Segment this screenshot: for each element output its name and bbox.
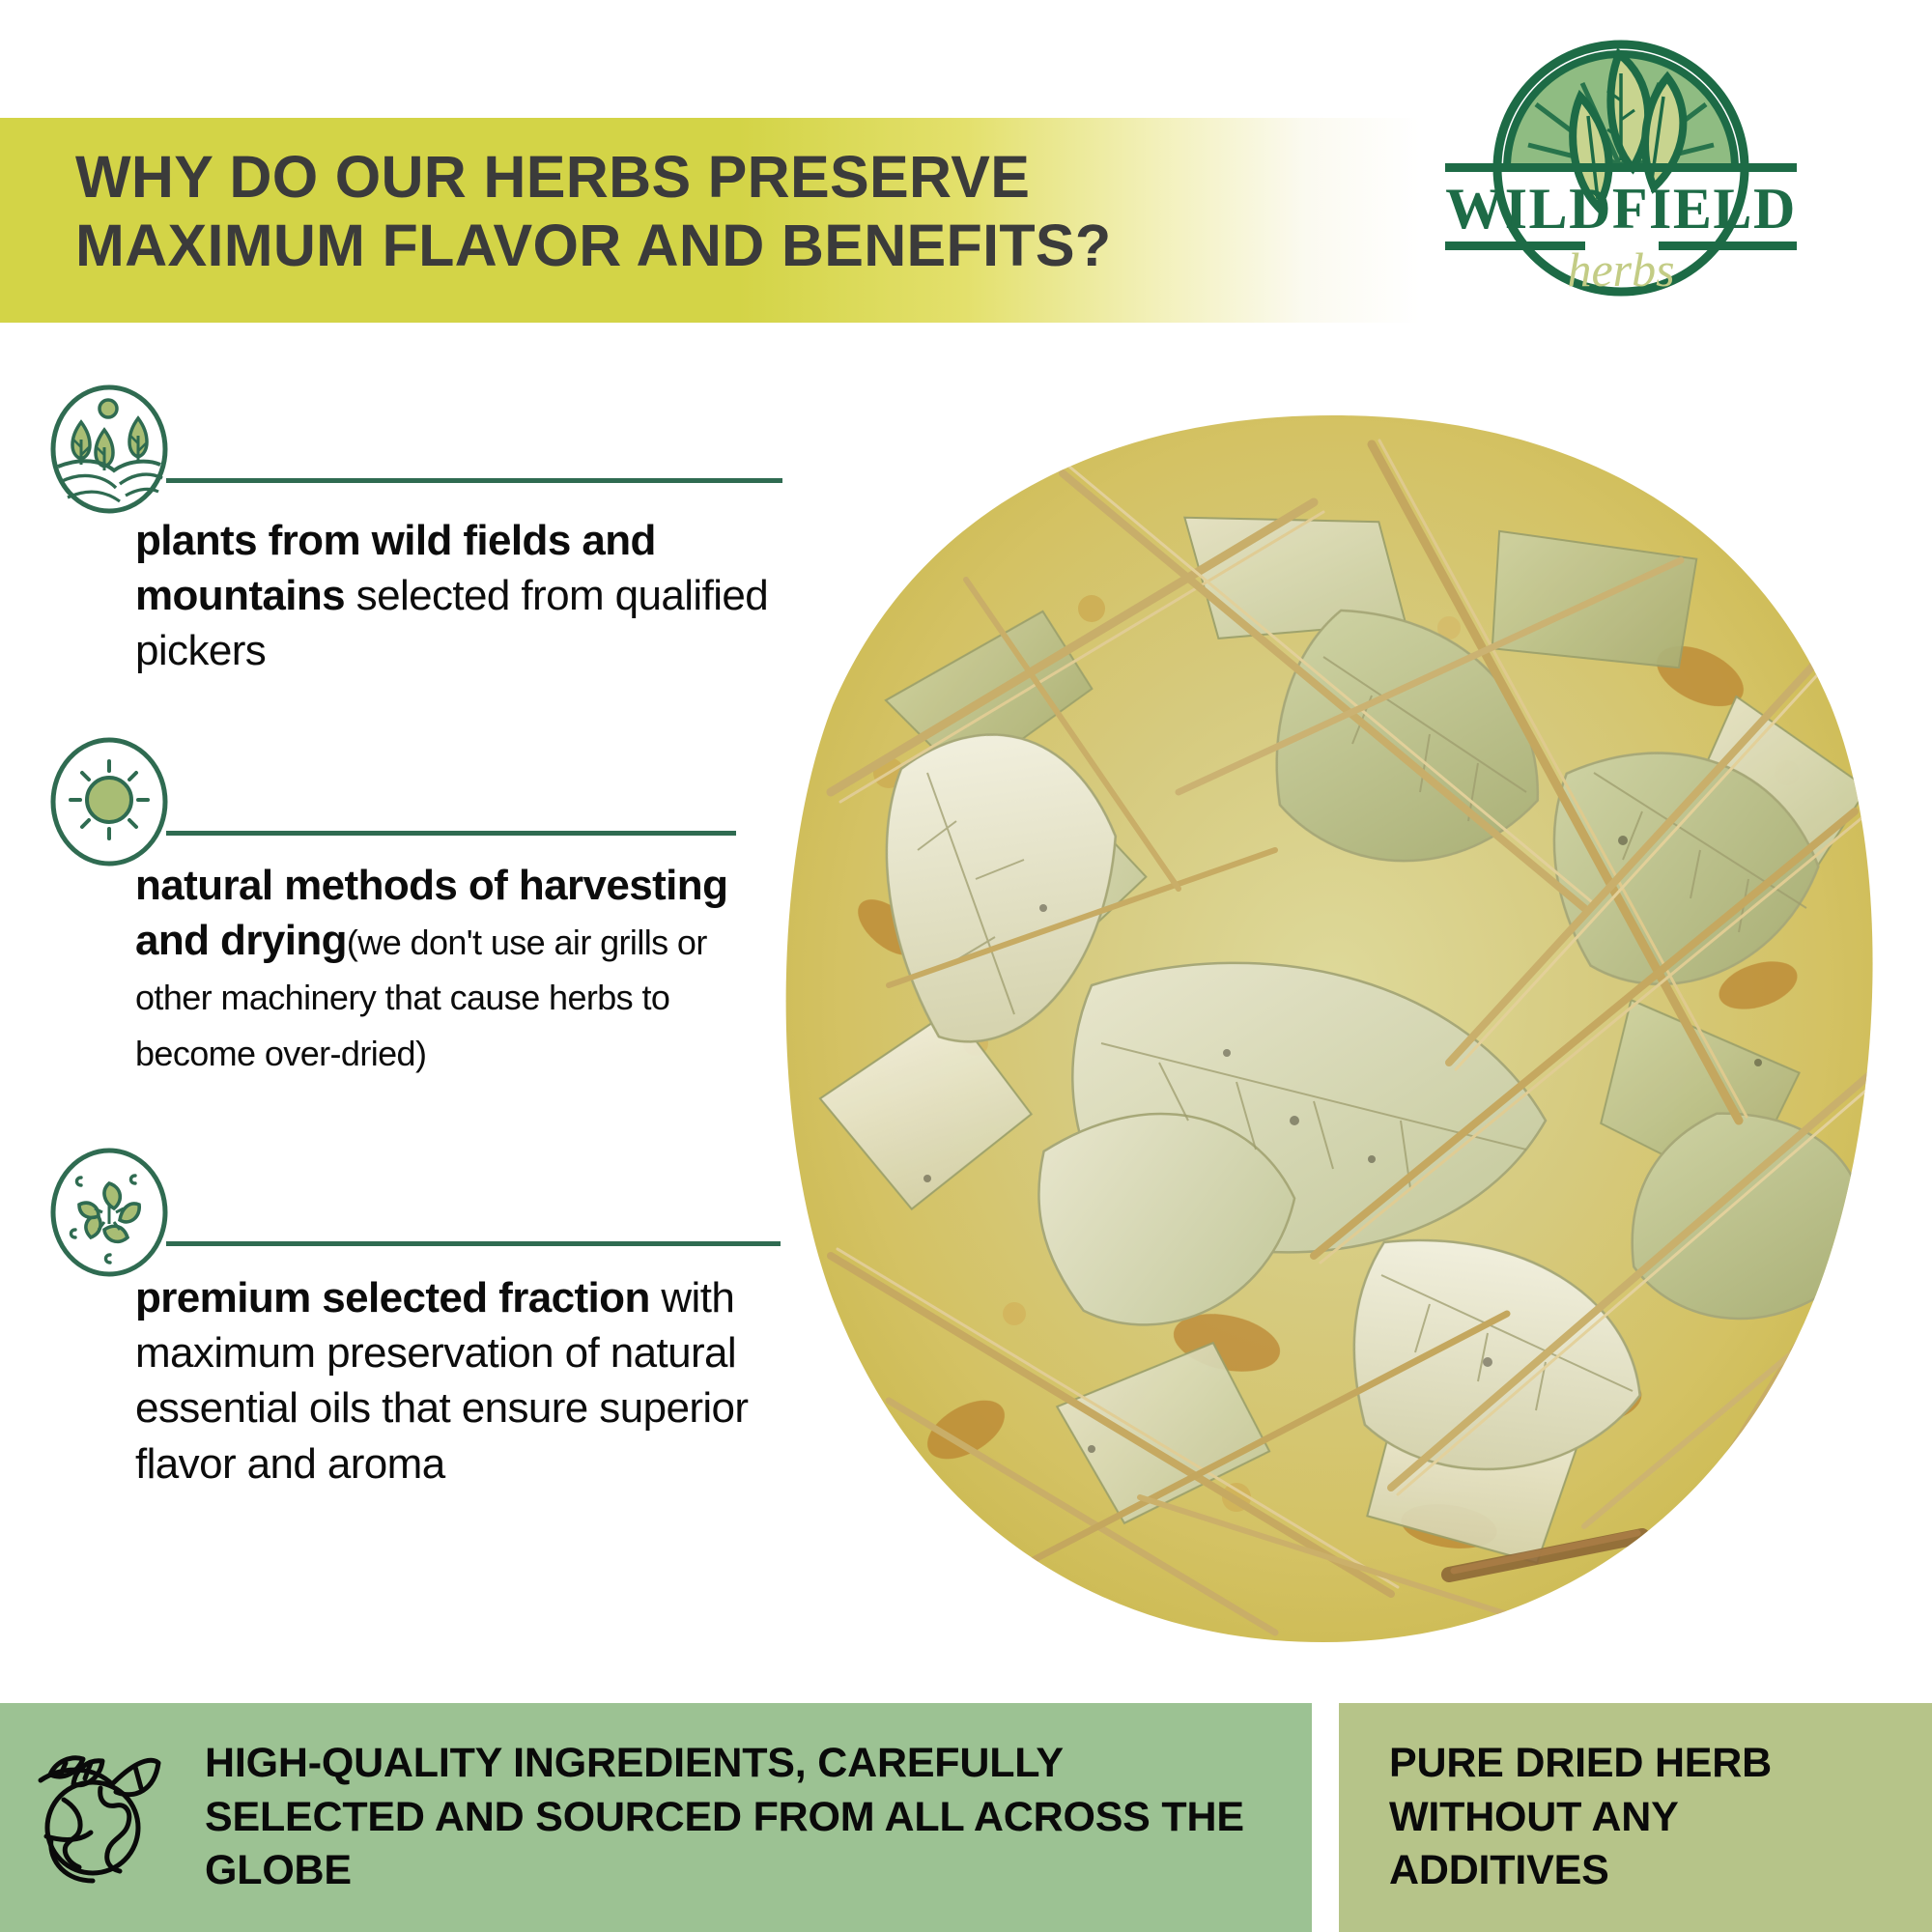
bottom-bar-left-text: HIGH-QUALITY INGREDIENTS, CAREFULLY SELE… (205, 1737, 1287, 1899)
feature-text: premium selected fraction with maximum p… (135, 1270, 773, 1492)
feature-text: plants from wild fields and mountains se… (135, 513, 773, 679)
feature-text: natural methods of harvesting and drying… (135, 858, 773, 1079)
feature-bold-text: premium selected fraction (135, 1274, 650, 1321)
feature-divider (166, 1241, 781, 1246)
brand-logo: WILDFIELD herbs (1428, 37, 1814, 299)
page-title: WHY DO OUR HERBS PRESERVE MAXIMUM FLAVOR… (75, 143, 1196, 281)
globe-leaf-icon (27, 1746, 162, 1890)
bottom-bar-pure-herb: PURE DRIED HERB WITHOUT ANY ADDITIVES (1339, 1703, 1932, 1932)
bottom-bar-quality: HIGH-QUALITY INGREDIENTS, CAREFULLY SELE… (0, 1703, 1312, 1932)
flower-drops-icon (46, 1145, 172, 1280)
logo-brand-name: WILDFIELD (1445, 177, 1797, 241)
dried-herb-pile-photo (773, 386, 1893, 1671)
feature-divider (166, 831, 736, 836)
field-trees-icon (46, 382, 172, 517)
logo-sub-name: herbs (1567, 242, 1674, 297)
feature-divider (166, 478, 782, 483)
sun-icon (46, 734, 172, 869)
bottom-bar-right-text: PURE DRIED HERB WITHOUT ANY ADDITIVES (1389, 1737, 1872, 1899)
